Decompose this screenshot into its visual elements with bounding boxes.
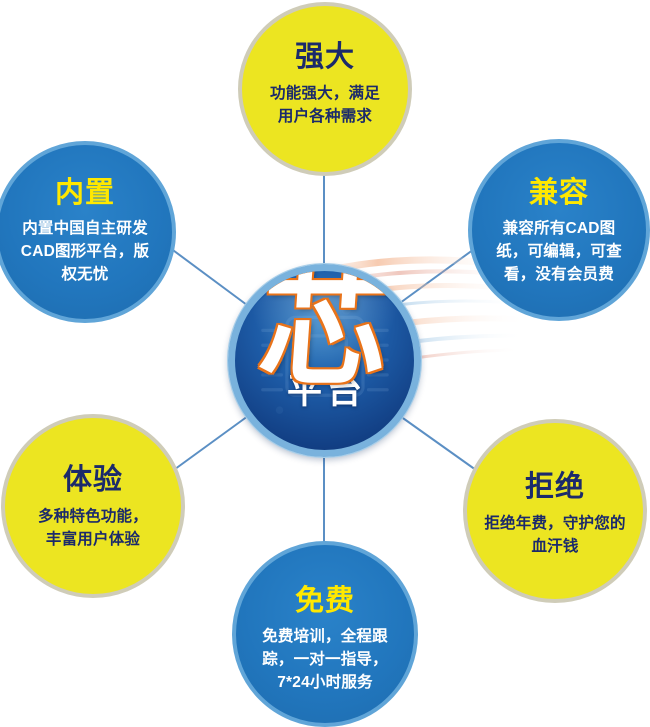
node-description: 兼容所有CAD图 纸，可编辑，可查 看，没有会员费 [480, 217, 638, 286]
hub-and-spoke-diagram: 强大 功能强大，满足 用户各种需求 兼容 兼容所有CAD图 纸，可编辑，可查 看… [0, 0, 650, 722]
node-title: 免费 [295, 586, 355, 616]
desc-line: 功能强大，满足 [270, 82, 380, 105]
desc-line: 拒绝年费，守护您的 [484, 512, 625, 535]
center-hub[interactable]: 芯 平台 [228, 264, 421, 457]
node-tiyan[interactable]: 体验 多种特色功能， 丰富用户体验 [1, 414, 185, 598]
node-title: 体验 [63, 465, 123, 495]
node-jianrong[interactable]: 兼容 兼容所有CAD图 纸，可编辑，可查 看，没有会员费 [468, 139, 650, 321]
hub-main-character: 芯 [256, 267, 393, 392]
node-title: 兼容 [529, 178, 589, 208]
desc-line: 权无忧 [21, 263, 149, 286]
desc-line: CAD图形平台，版 [21, 240, 149, 263]
desc-line: 纸，可编辑，可查 [496, 240, 622, 263]
desc-line: 7*24小时服务 [262, 671, 388, 694]
desc-line: 丰富用户体验 [38, 528, 148, 551]
node-jujue[interactable]: 拒绝 拒绝年费，守护您的 血汗钱 [463, 419, 647, 603]
desc-line: 内置中国自主研发 [21, 217, 149, 240]
node-description: 免费培训，全程跟 踪，一对一指导， 7*24小时服务 [246, 625, 404, 694]
node-title: 强大 [295, 42, 355, 72]
desc-line: 兼容所有CAD图 [496, 217, 622, 240]
desc-line: 多种特色功能， [38, 505, 148, 528]
node-description: 内置中国自主研发 CAD图形平台，版 权无忧 [7, 217, 163, 286]
node-description: 功能强大，满足 用户各种需求 [258, 82, 392, 128]
node-description: 拒绝年费，守护您的 血汗钱 [470, 512, 639, 558]
desc-line: 血汗钱 [484, 535, 625, 558]
desc-line: 看，没有会员费 [496, 263, 622, 286]
desc-line: 用户各种需求 [270, 105, 380, 128]
node-mianfei[interactable]: 免费 免费培训，全程跟 踪，一对一指导， 7*24小时服务 [232, 541, 418, 727]
desc-line: 踪，一对一指导， [262, 648, 388, 671]
node-title: 内置 [55, 178, 115, 208]
desc-line: 免费培训，全程跟 [262, 625, 388, 648]
node-neizhi[interactable]: 内置 内置中国自主研发 CAD图形平台，版 权无忧 [0, 141, 176, 323]
node-qiangda[interactable]: 强大 功能强大，满足 用户各种需求 [238, 2, 412, 176]
node-description: 多种特色功能， 丰富用户体验 [24, 505, 162, 551]
node-title: 拒绝 [525, 472, 585, 502]
